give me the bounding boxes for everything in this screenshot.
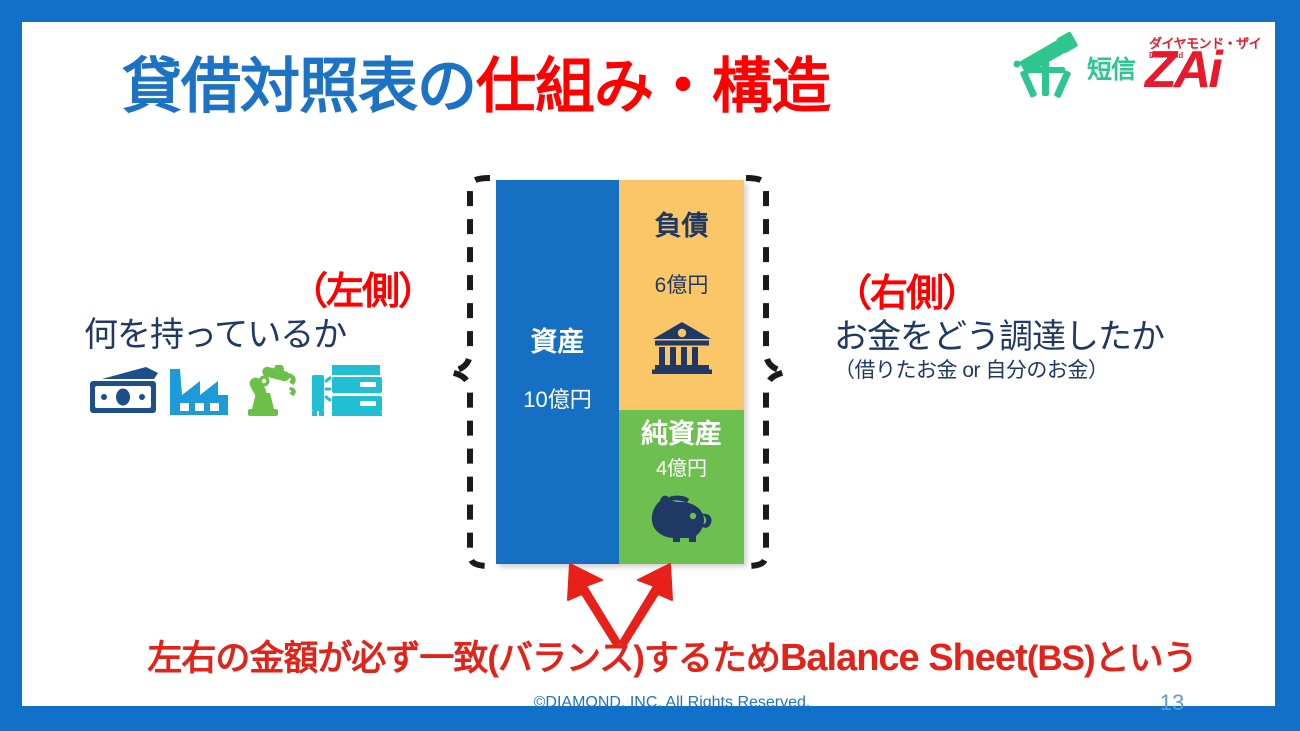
bank-icon [619,320,744,374]
equity-label: 純資産 [619,420,744,450]
right-side-description: お金をどう調達したか [834,318,1254,357]
left-side-description: 何を持っているか [84,316,434,355]
left-side-group: （左側） 何を持っているか [84,272,434,422]
page-number: 13 [1142,690,1202,716]
zai-wordmark: ZAi [1145,44,1220,96]
factory-icon [168,365,230,422]
footer-copyright: ©DIAMOND, INC. All Rights Reserved. [22,694,1300,712]
cash-icon [88,365,160,422]
left-side-icon-row [88,363,434,422]
right-side-note: （借りたお金 or 自分のお金） [834,359,1254,383]
robot-arm-icon [238,365,302,422]
liabilities-amount: 6億円 [619,274,744,297]
page-title-red-part: 仕組み・構造 [476,53,830,120]
right-side-tag: （右側） [834,274,1254,316]
assets-amount: 10億円 [496,388,619,412]
logo-area: 短信 ダイヤモンド・ザイ Diamond ZAi [1007,30,1263,105]
liabilities-label: 負債 [619,212,744,242]
assets-bar: 資産 10億円 [496,180,619,564]
slide-frame: 貸借対照表の仕組み・構造 [0,0,1300,731]
liabilities-bar: 負債 6億円 [619,180,744,410]
bottom-caption: 左右の金額が必ず一致(バランス)するためBalance Sheet(BS)という [22,630,1300,681]
telescope-icon [1007,30,1085,105]
page-title-blue-part: 貸借対照表の [122,53,476,120]
printer-icon [310,363,384,422]
caption-suffix: (BS)という [1027,639,1197,678]
caption-english: Balance Sheet [780,637,1027,679]
slide-canvas: 貸借対照表の仕組み・構造 [22,22,1275,706]
caption-prefix: 左右の金額が必ず一致(バランス)するため [147,639,780,678]
right-side-group: （右側） お金をどう調達したか （借りたお金 or 自分のお金） [834,274,1254,383]
page-title: 貸借対照表の仕組み・構造 [122,54,830,120]
left-side-tag: （左側） [84,272,434,314]
equity-bar: 純資産 4億円 [619,410,744,564]
zai-logo: ダイヤモンド・ザイ Diamond ZAi [1145,32,1263,104]
balance-sheet-chart: 資産 10億円 負債 6億円 [496,180,744,564]
equity-amount: 4億円 [619,458,744,480]
piggy-bank-icon [619,492,744,544]
left-bracket-icon [446,174,492,575]
tanshin-label: 短信 [1087,50,1135,86]
tanshin-logo: 短信 [1007,30,1135,105]
right-bracket-icon [744,174,790,575]
assets-label: 資産 [496,328,619,358]
